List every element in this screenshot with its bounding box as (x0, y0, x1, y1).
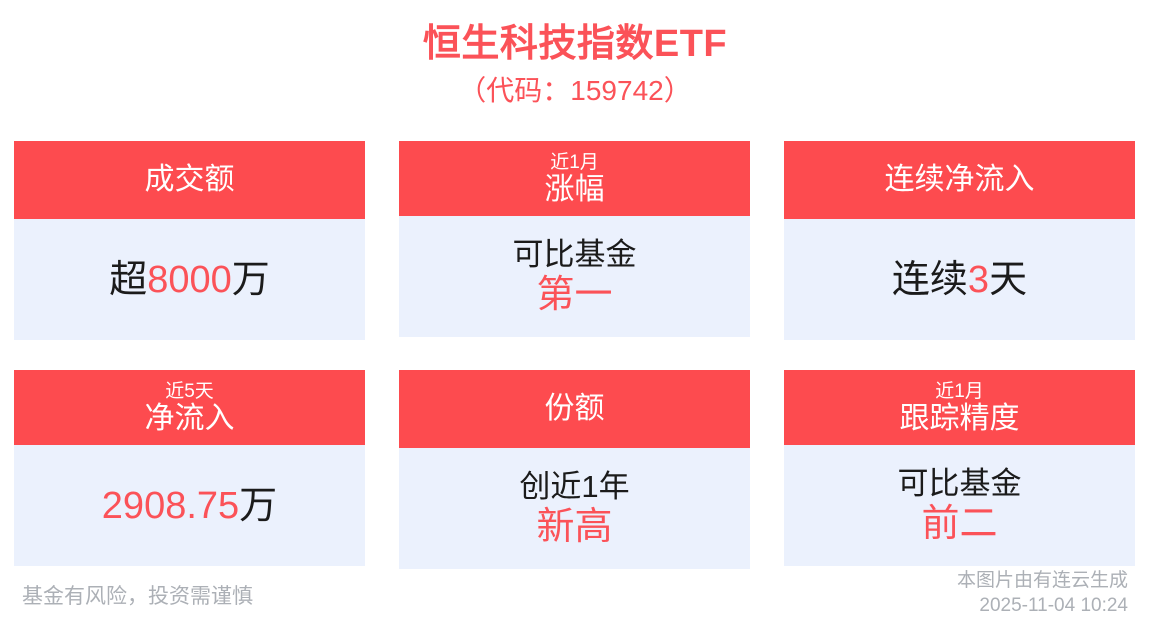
metric-body-value: 超8000万 (109, 258, 270, 302)
metric-body-value: 2908.75万 (102, 484, 277, 528)
metric-card-body: 2908.75万 (14, 445, 365, 566)
metric-card-body: 可比基金 前二 (784, 445, 1135, 566)
title-block: 恒生科技指数ETF （代码：159742） (0, 0, 1150, 108)
metric-body-value: 新高 (536, 505, 612, 549)
metric-card-grid: 成交额 超8000万 近1月 涨幅 可比基金 第一 连续净流入 连续3天 近5天 (14, 141, 1136, 569)
metric-value-highlight: 8000 (147, 259, 232, 301)
metric-card-tracking-accuracy: 近1月 跟踪精度 可比基金 前二 (784, 370, 1135, 569)
metric-card-header: 近1月 涨幅 (399, 141, 750, 216)
metric-body-value: 第一 (536, 273, 612, 317)
metric-card-header: 份额 (399, 370, 750, 448)
generator-source: 本图片由有连云生成 (957, 568, 1128, 593)
metric-value-prefix: 超 (109, 259, 147, 301)
metric-title: 跟踪精度 (900, 402, 1020, 436)
metric-card-body: 可比基金 第一 (399, 216, 750, 337)
metric-body-value: 连续3天 (892, 258, 1027, 302)
metric-body-top: 可比基金 (898, 465, 1022, 502)
metric-value-highlight: 2908.75 (102, 485, 239, 527)
generator-credit: 本图片由有连云生成 2025-11-04 10:24 (957, 568, 1128, 618)
metric-card-header: 近1月 跟踪精度 (784, 370, 1135, 445)
metric-period-label: 近1月 (550, 152, 599, 173)
metric-card-shares: 份额 创近1年 新高 (399, 370, 750, 569)
fund-code: （代码：159742） (0, 68, 1150, 108)
metric-value-highlight: 第一 (536, 274, 612, 316)
metric-card-net-inflow-5d: 近5天 净流入 2908.75万 (14, 370, 365, 569)
page-title: 恒生科技指数ETF (0, 0, 1150, 68)
metric-title: 净流入 (145, 402, 235, 436)
metric-value-suffix: 万 (239, 485, 277, 527)
metric-card-body: 创近1年 新高 (399, 448, 750, 569)
metric-card-gain: 近1月 涨幅 可比基金 第一 (399, 141, 750, 340)
metric-value-highlight: 3 (968, 259, 989, 301)
metric-card-header: 成交额 (14, 141, 365, 219)
metric-period-label: 近1月 (935, 381, 984, 402)
metric-period-label: 近5天 (165, 381, 214, 402)
metric-value-highlight: 新高 (536, 506, 612, 548)
metric-body-top: 可比基金 (513, 236, 637, 273)
metric-value-suffix: 天 (989, 259, 1027, 301)
metric-title: 涨幅 (545, 173, 605, 207)
metric-title: 连续净流入 (885, 163, 1035, 197)
metric-body-top: 创近1年 (519, 468, 629, 505)
metric-title: 份额 (545, 392, 605, 426)
metric-value-prefix: 连续 (892, 259, 968, 301)
metric-title: 成交额 (145, 163, 235, 197)
metric-value-highlight: 前二 (921, 503, 997, 545)
generated-timestamp: 2025-11-04 10:24 (957, 593, 1128, 618)
metric-card-header: 连续净流入 (784, 141, 1135, 219)
risk-disclaimer: 基金有风险，投资需谨慎 (22, 584, 253, 610)
metric-value-suffix: 万 (232, 259, 270, 301)
metric-card-body: 连续3天 (784, 219, 1135, 340)
metric-body-value: 前二 (921, 502, 997, 546)
metric-card-body: 超8000万 (14, 219, 365, 340)
metric-card-turnover: 成交额 超8000万 (14, 141, 365, 340)
metric-card-header: 近5天 净流入 (14, 370, 365, 445)
metric-card-net-inflow-streak: 连续净流入 连续3天 (784, 141, 1135, 340)
